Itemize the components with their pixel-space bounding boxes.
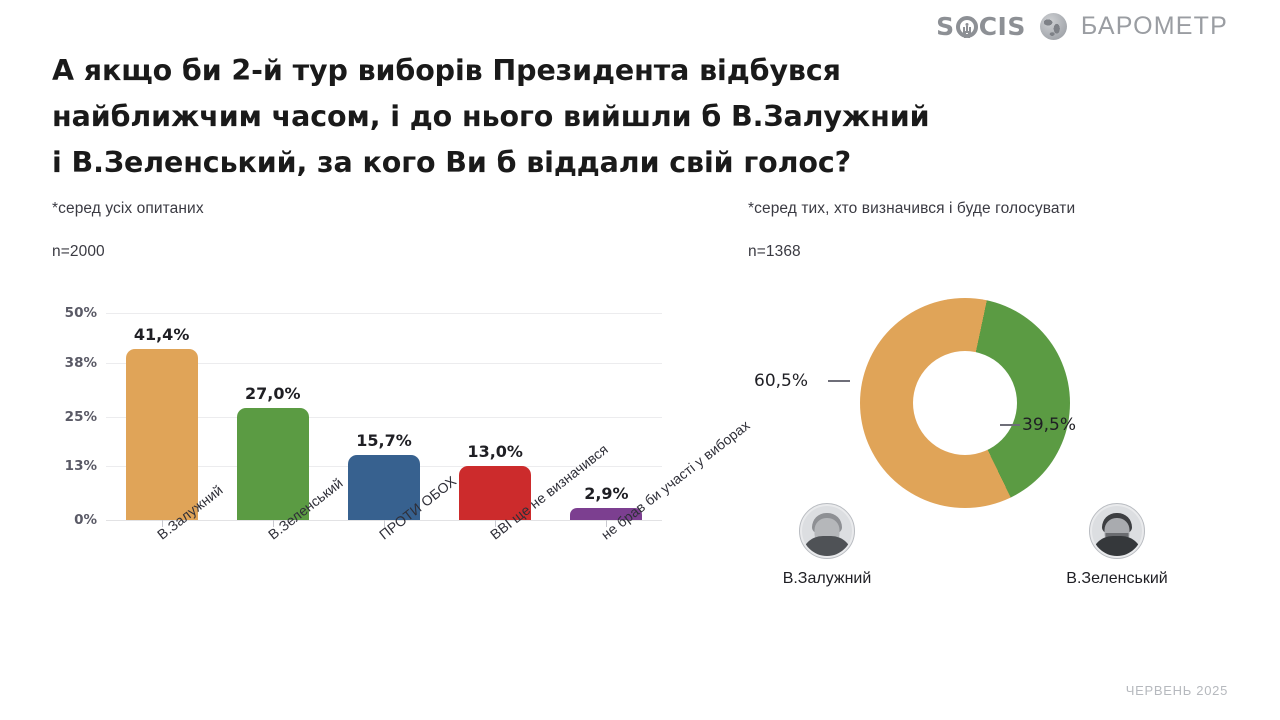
bar[interactable] [126, 349, 198, 520]
socis-logo-suffix: CIS [979, 12, 1026, 41]
bar-value-label: 15,7% [356, 431, 412, 450]
bar-chart: 0%13%25%38%50%41,4%В.Залужний27,0%В.Зеле… [48, 305, 668, 520]
person-name-zaluzhny: В.Залужний [742, 570, 912, 588]
right-panel-sample: n=1368 [748, 243, 801, 261]
donut-value-zaluzhny: 60,5% [754, 371, 808, 391]
bar-value-label: 41,4% [134, 325, 190, 344]
donut-value-zelensky: 39,5% [1022, 415, 1076, 435]
footer-date: ЧЕРВЕНЬ 2025 [1126, 683, 1228, 698]
donut-ring [860, 298, 1070, 508]
slide-root: S CIS БАРОМЕТР А якщо би 2-й тур виборів… [0, 0, 1280, 720]
zelensky-avatar [1089, 503, 1145, 559]
page-title-line-3: і В.Зеленський, за кого Ви б віддали сві… [52, 140, 972, 186]
avatar-body [1092, 536, 1142, 556]
y-axis-tick-label: 50% [65, 305, 97, 321]
person-zaluzhny: В.Залужний [742, 503, 912, 588]
right-panel-note: *серед тих, хто визначився і буде голосу… [748, 200, 1075, 218]
brand-header: S CIS БАРОМЕТР [936, 12, 1228, 41]
person-name-zelensky: В.Зеленський [1032, 570, 1202, 588]
page-title: А якщо би 2-й тур виборів Президента від… [52, 48, 972, 186]
y-axis-tick-label: 25% [65, 409, 97, 425]
avatar-photo [802, 506, 852, 556]
donut-hole [913, 351, 1017, 455]
y-axis-tick-label: 38% [65, 355, 97, 371]
bar-value-label: 13,0% [467, 442, 523, 461]
avatar-photo [1092, 506, 1142, 556]
zaluzhny-avatar [799, 503, 855, 559]
page-title-line-2: найближчим часом, і до нього вийшли б В.… [52, 94, 972, 140]
socis-logo: S CIS [936, 12, 1026, 41]
donut-leader-line-right [1000, 424, 1020, 426]
y-axis-tick-label: 13% [65, 458, 97, 474]
donut-chart: 60,5% 39,5% В.Залужний В.З [742, 288, 1202, 618]
socis-logo-prefix: S [936, 12, 955, 41]
bar-value-label: 2,9% [584, 484, 628, 503]
brand-word: БАРОМЕТР [1081, 12, 1228, 41]
person-zelensky: В.Зеленський [1032, 503, 1202, 588]
x-axis-category-label: не брав би участі у виборах [598, 417, 753, 543]
globe-icon [1040, 13, 1067, 40]
page-title-line-1: А якщо би 2-й тур виборів Президента від… [52, 48, 972, 94]
bar-chart-plot-area: 0%13%25%38%50%41,4%В.Залужний27,0%В.Зеле… [106, 313, 662, 520]
avatar-body [802, 536, 852, 556]
gridline [106, 313, 662, 314]
left-panel-sample: n=2000 [52, 243, 105, 261]
y-axis-tick-label: 0% [74, 512, 97, 528]
bar-value-label: 27,0% [245, 384, 301, 403]
socis-person-in-o-icon [956, 16, 978, 38]
left-panel-note: *серед усіх опитаних [52, 200, 204, 218]
donut-leader-line-left [828, 380, 850, 382]
